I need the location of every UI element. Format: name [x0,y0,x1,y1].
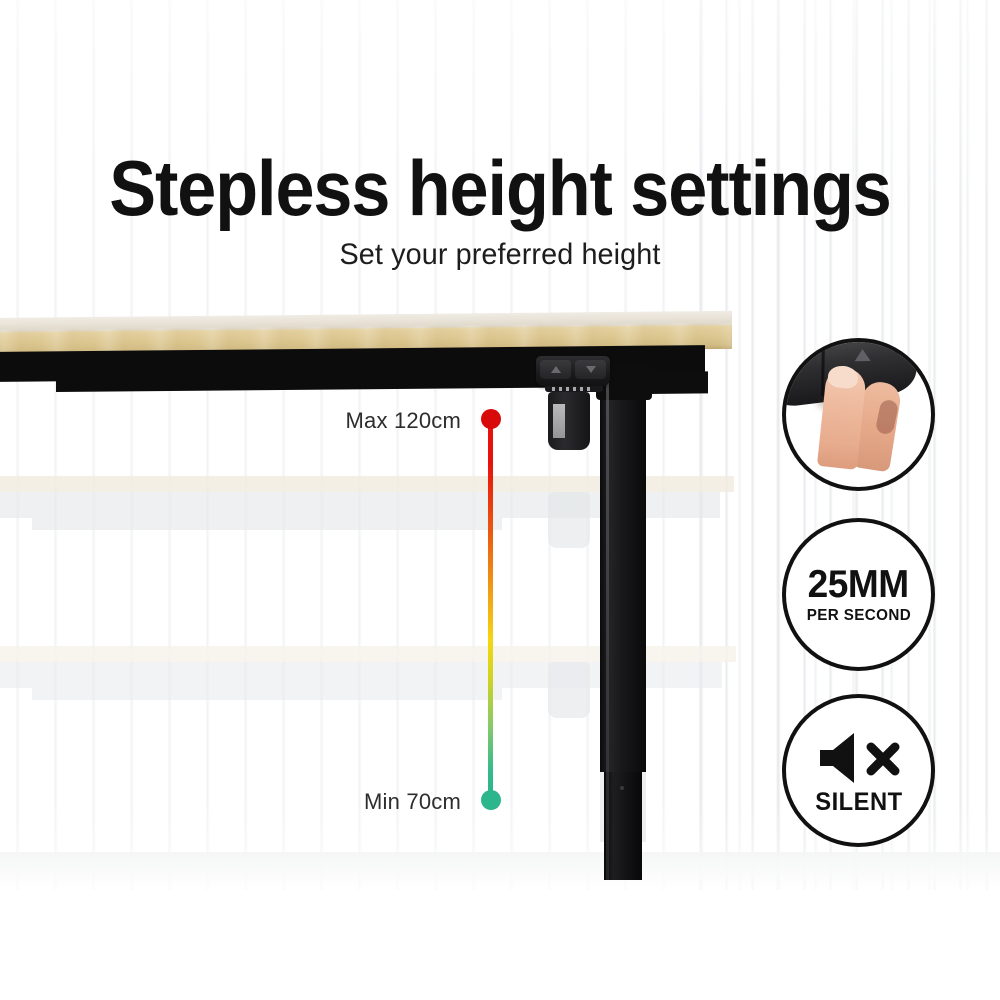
badge-speed-unit: PER SECOND [806,607,910,625]
ghost-frame-step [32,688,502,700]
headline-block: Stepless height settings Set your prefer… [0,148,1000,272]
down-arrow-icon [586,366,596,373]
desk-leg-lower-section [604,768,642,880]
page-title: Stepless height settings [50,148,950,228]
control-down-button[interactable] [575,360,606,379]
badge-silent-operation: SILENT [782,694,935,847]
min-height-label: Min 70cm [176,789,461,815]
page-subtitle: Set your preferred height [20,238,980,272]
product-feature-image: Stepless height settings Set your prefer… [0,0,1000,1000]
badge-one-touch-control [782,338,935,491]
control-up-button[interactable] [540,360,571,379]
control-panel-connector-pins [552,387,594,391]
badge-lift-speed: 25MM PER SECOND [782,518,935,671]
height-range-gradient-bar [488,418,493,802]
min-height-marker-dot [481,790,501,810]
badge-speed-content: 25MM PER SECOND [786,522,931,667]
desk-leg-highlight [606,366,609,880]
up-arrow-icon [551,366,561,373]
max-height-label: Max 120cm [176,408,461,434]
desk-motor-label [553,404,565,438]
ghost-frame-step [32,518,502,530]
desk-control-panel[interactable] [536,356,610,386]
badge-silent-content: SILENT [786,698,931,843]
controller-up-arrow-icon [854,349,870,361]
max-height-marker-dot [481,409,501,429]
desk-leg-screw [620,786,624,790]
badge-speed-value: 25MM [808,565,909,605]
badge-silent-label: SILENT [815,789,902,815]
speaker-mute-icon [816,731,902,785]
